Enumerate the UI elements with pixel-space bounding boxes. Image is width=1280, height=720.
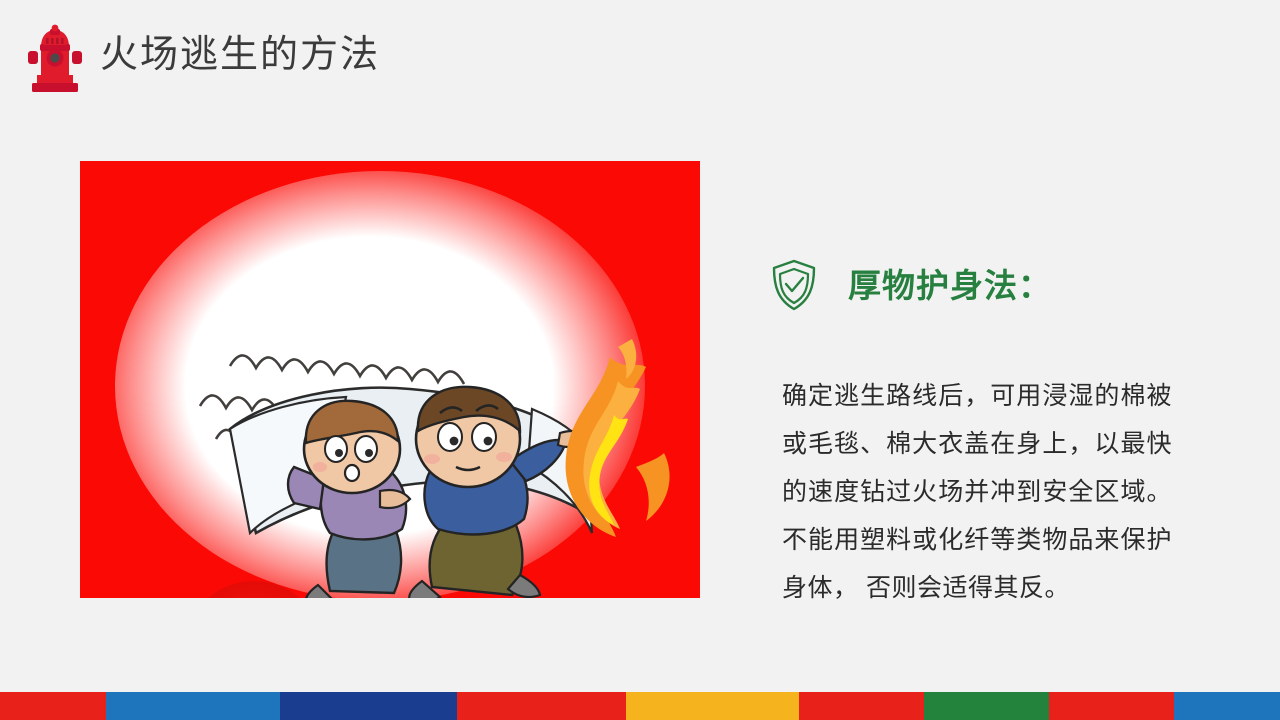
page-title: 火场逃生的方法 bbox=[100, 36, 380, 74]
bottom-color-bar bbox=[0, 692, 1280, 720]
slide-header: 火场逃生的方法 bbox=[0, 0, 1280, 110]
segment-red-2 bbox=[457, 692, 626, 720]
segment-red-1 bbox=[0, 692, 106, 720]
shield-check-icon bbox=[770, 258, 818, 312]
illustration-artwork: 4 bbox=[80, 161, 700, 598]
section-body-text: 确定逃生路线后，可用浸湿的棉被或毛毯、棉大衣盖在身上，以最快的速度钻过火场并冲到… bbox=[782, 372, 1172, 612]
segment-red-3 bbox=[799, 692, 924, 720]
content-panel: 厚物护身法： 确定逃生路线后，可用浸湿的棉被或毛毯、棉大衣盖在身上，以最快的速度… bbox=[770, 250, 1200, 612]
segment-green bbox=[924, 692, 1049, 720]
escape-illustration: 4 bbox=[80, 161, 700, 598]
fire-hydrant-icon bbox=[28, 17, 82, 93]
segment-blue-dark bbox=[280, 692, 456, 720]
segment-blue-light-2 bbox=[1174, 692, 1280, 720]
segment-blue-light-1 bbox=[106, 692, 281, 720]
segment-yellow bbox=[626, 692, 799, 720]
segment-red-4 bbox=[1049, 692, 1174, 720]
section-heading-row: 厚物护身法： bbox=[770, 250, 1200, 320]
section-heading: 厚物护身法： bbox=[848, 269, 1052, 302]
